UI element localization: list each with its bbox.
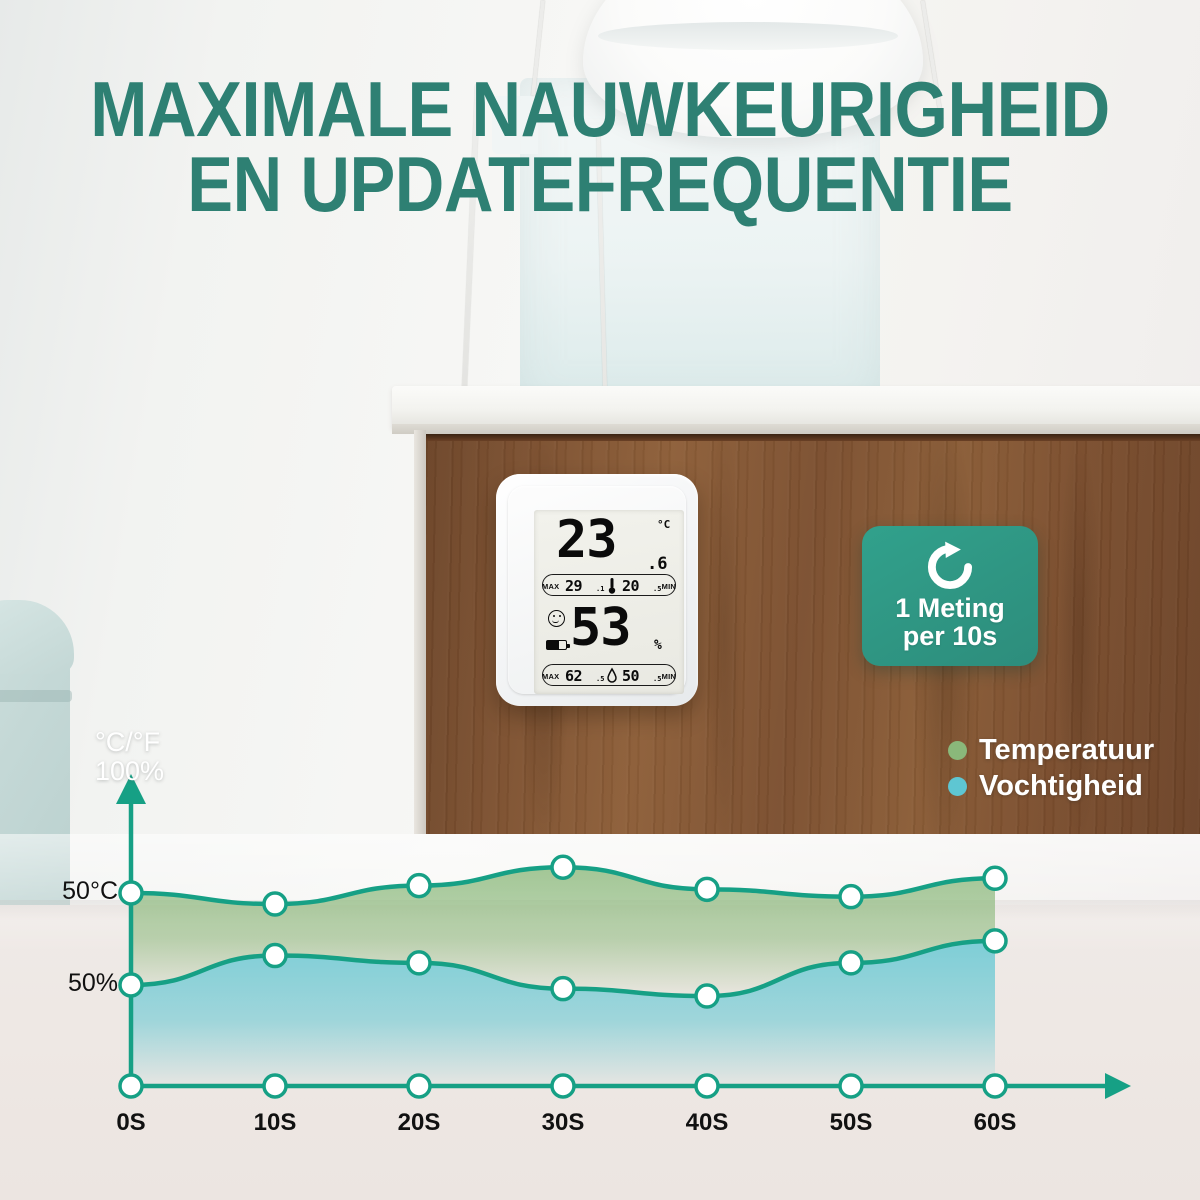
humidity-max-value: 62 <box>565 667 582 685</box>
humidity-value: 53 <box>570 602 631 654</box>
x-axis-tick-10s: 10S <box>254 1109 297 1137</box>
battery-icon <box>546 640 567 650</box>
temperature-value: 23 <box>556 514 617 566</box>
temperature-min-value: 20 <box>622 577 639 595</box>
temperature-max-label: MAX <box>542 582 559 591</box>
x-axis-tick-30s: 30S <box>542 1109 585 1137</box>
x-axis-tick-50s: 50S <box>830 1109 873 1137</box>
x-axis-tick-marker <box>408 1075 430 1097</box>
x-axis-tick-0s: 0S <box>116 1109 145 1137</box>
x-axis-arrow <box>1105 1073 1131 1099</box>
data-point-marker <box>840 886 862 908</box>
temperature-minmax-row: MAX 29 .1 20 .5 MIN <box>542 574 676 596</box>
humidity-min-decimal: .5 <box>653 675 661 683</box>
wood-cabinet-top-edge <box>424 434 1200 441</box>
temperature-max-decimal: .1 <box>596 585 604 593</box>
y-axis-tick-0: 50°C <box>62 877 118 906</box>
lcd-screen: 23 °C .6 MAX 29 .1 20 .5 MIN <box>534 510 684 694</box>
y-axis-tick-1: 50% <box>68 969 118 998</box>
humidity-min-value: 50 <box>622 667 639 685</box>
x-axis-tick-marker <box>552 1075 574 1097</box>
refresh-icon <box>921 538 979 596</box>
data-point-marker <box>264 893 286 915</box>
x-axis-tick-marker <box>264 1075 286 1097</box>
device-bezel: 23 °C .6 MAX 29 .1 20 .5 MIN <box>508 486 686 694</box>
temperature-min-decimal: .5 <box>653 585 661 593</box>
pendant-lamp-rim <box>598 22 898 50</box>
measurement-frequency-badge: 1 Meting per 10s <box>862 526 1038 666</box>
data-point-marker <box>120 882 142 904</box>
data-point-marker <box>408 875 430 897</box>
humidity-max-label: MAX <box>542 672 559 681</box>
data-point-marker <box>120 974 142 996</box>
data-point-marker <box>840 952 862 974</box>
y-axis-tick-labels: 50°C50% <box>0 700 118 1160</box>
page-title: MAXIMALE NAUWKEURIGHEID EN UPDATEFREQUEN… <box>72 72 1128 222</box>
smiley-face-icon <box>548 610 565 627</box>
x-axis-tick-marker <box>696 1075 718 1097</box>
x-axis-tick-20s: 20S <box>398 1109 441 1137</box>
humidity-unit: % <box>654 638 662 653</box>
data-point-marker <box>696 878 718 900</box>
temperature-min-label: MIN <box>662 582 676 591</box>
measurement-frequency-line1: 1 Meting <box>862 594 1038 622</box>
data-point-marker <box>984 930 1006 952</box>
thermometer-icon <box>606 577 618 595</box>
measurement-frequency-text: 1 Meting per 10s <box>862 594 1038 651</box>
x-axis-tick-60s: 60S <box>974 1109 1017 1137</box>
data-point-marker <box>408 952 430 974</box>
temperature-decimal: .6 <box>647 554 667 574</box>
humidity-min-label: MIN <box>662 672 676 681</box>
cabinet-countertop <box>392 386 1200 428</box>
data-point-marker <box>264 945 286 967</box>
humidity-max-decimal: .5 <box>596 675 604 683</box>
data-point-marker <box>552 978 574 1000</box>
x-axis-tick-marker <box>840 1075 862 1097</box>
temperature-unit: °C <box>657 518 670 531</box>
data-point-marker <box>552 856 574 878</box>
humidity-minmax-row: MAX 62 .5 50 .5 MIN <box>542 664 676 686</box>
measurement-chart: °C/°F 100% 50°C50% 0S10S20S30S40S50S60S <box>0 700 1200 1160</box>
thermo-hygrometer-device: 23 °C .6 MAX 29 .1 20 .5 MIN <box>496 474 698 706</box>
temperature-max-value: 29 <box>565 577 582 595</box>
data-point-marker <box>696 985 718 1007</box>
page-title-line2: EN UPDATEFREQUENTIE <box>72 147 1128 222</box>
measurement-frequency-line2: per 10s <box>862 622 1038 650</box>
x-axis-tick-marker <box>984 1075 1006 1097</box>
cabinet-countertop-edge <box>392 424 1200 434</box>
x-axis-tick-40s: 40S <box>686 1109 729 1137</box>
data-point-marker <box>984 867 1006 889</box>
water-drop-icon <box>606 667 618 685</box>
product-marketing-image: MAXIMALE NAUWKEURIGHEID EN UPDATEFREQUEN… <box>0 0 1200 1200</box>
x-axis-tick-marker <box>120 1075 142 1097</box>
